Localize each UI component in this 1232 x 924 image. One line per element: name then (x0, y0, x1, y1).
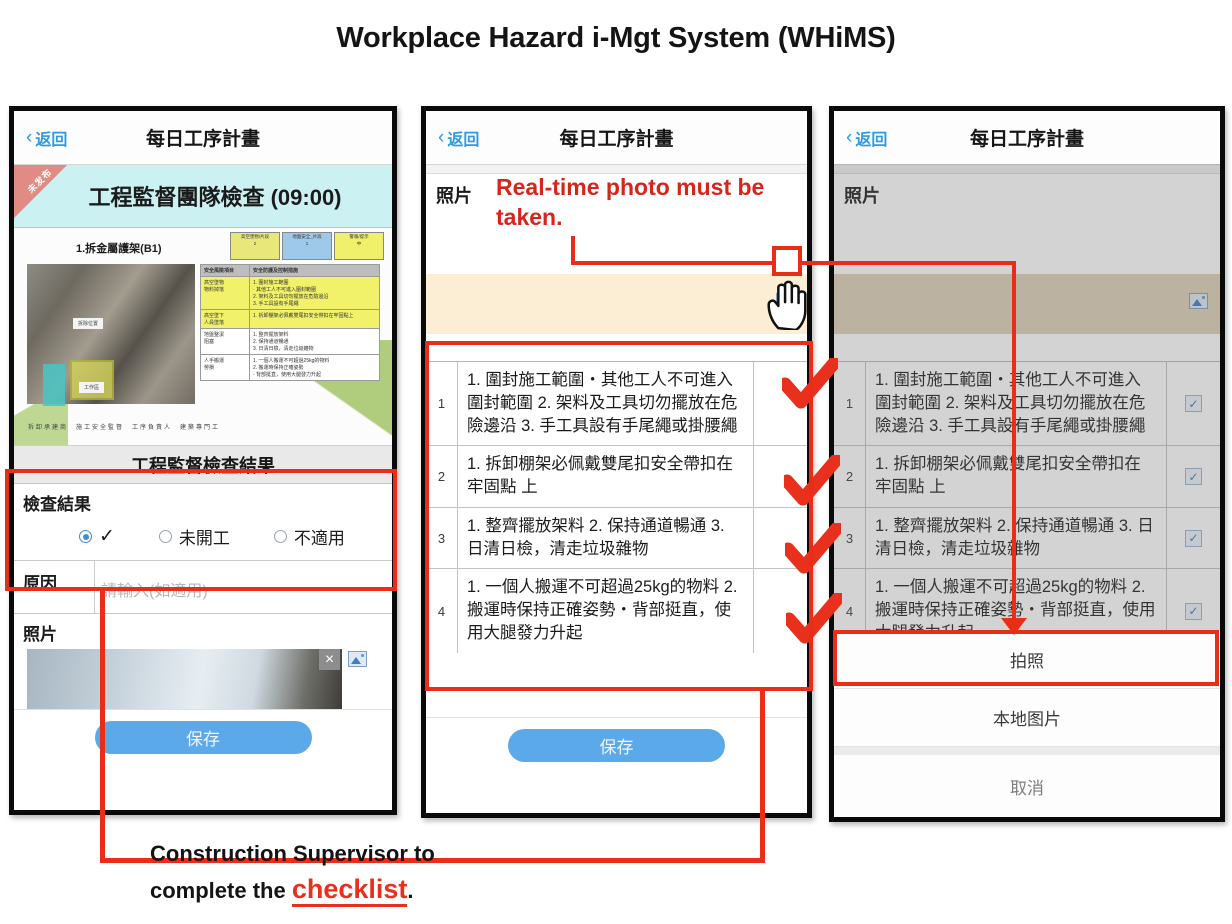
nav-title-3: 每日工序計畫 (834, 124, 1220, 151)
table-row[interactable]: 1 1. 圍封施工範圍・其他工人不可進入圍封範圍 2. 架料及工具切勿擺放在危險… (834, 362, 1220, 446)
task-banner-label: 工程監督團隊檢查 (09:00) (64, 180, 341, 212)
checklist-table-3: 1 1. 圍封施工範圍・其他工人不可進入圍封範圍 2. 架料及工具切勿擺放在危險… (834, 361, 1220, 653)
save-button-1[interactable]: 保存 (95, 721, 312, 754)
radio-option-pass[interactable]: ✓ (79, 527, 115, 546)
slide-heading: 1.拆金屬護架(B1) (76, 240, 162, 256)
checkbox-icon[interactable]: ✓ (1185, 603, 1202, 620)
checkbox-icon[interactable]: ✓ (1185, 395, 1202, 412)
picture-icon[interactable] (348, 651, 367, 667)
row-text: 1. 拆卸棚架必佩戴雙尾扣安全帶扣在牢固點 上 (866, 446, 1166, 507)
back-button-3[interactable]: ‹ 返回 (846, 126, 887, 150)
table-row[interactable]: 1 1. 圍封施工範圍・其他工人不可進入圍封範圍 2. 架料及工具切勿擺放在危險… (426, 362, 807, 446)
annotation-bottom-highlight: checklist (292, 874, 408, 907)
inspection-result-label: 檢查結果 (23, 490, 392, 515)
table-row[interactable]: 3 1. 整齊擺放架料 2. 保持通道暢通 3. 日清日檢，清走垃圾雜物 (426, 508, 807, 570)
back-label: 返回 (35, 126, 67, 150)
row-text: 1. 一個人搬運不可超過25kg的物料 2. 搬運時保持正確姿勢・背部挺直，使用… (458, 569, 753, 652)
photo-label-3: 照片 (844, 182, 880, 208)
nav-bar-3: ‹ 返回 每日工序計畫 (834, 111, 1220, 165)
photo-section-3: 照片 (834, 174, 1220, 361)
chevron-left-icon: ‹ (26, 128, 32, 147)
slide-photo-label-top: 拆除位置 (73, 318, 103, 329)
inspection-result-block: 檢查結果 ✓ 未開工 不適用 (14, 484, 392, 560)
action-local-image[interactable]: 本地图片 (834, 689, 1220, 747)
annotation-line-supervisor-h (100, 858, 152, 863)
row-checkbox-cell[interactable]: ✓ (1166, 508, 1220, 569)
save-button-2[interactable]: 保存 (508, 729, 725, 762)
action-take-photo[interactable]: 拍照 (834, 631, 1220, 689)
radio-dot-icon (79, 530, 92, 543)
photo-section-1: 照片 × (14, 613, 392, 709)
row-number: 1 (834, 362, 866, 445)
row-number: 1 (426, 362, 458, 445)
annotation-tick-2 (784, 455, 840, 507)
back-label: 返回 (447, 126, 479, 150)
row-checkbox-cell[interactable]: ✓ (1166, 446, 1220, 507)
table-row: 人手搬運 勞損 1. 一個人搬運不可超過25kg的物料 2. 搬運時保持正確姿勢… (201, 355, 379, 380)
annotation-tick-1 (782, 358, 838, 410)
annotation-bottom-line1: Construction Supervisor to (150, 841, 435, 866)
inspection-result-header: 工程監督檢查結果 (14, 446, 392, 484)
row-checkbox-cell[interactable]: ✓ (1166, 362, 1220, 445)
annotation-realtime-photo: Real-time photo must be taken. (496, 172, 796, 233)
back-label: 返回 (855, 126, 887, 150)
picture-icon[interactable] (1189, 293, 1208, 309)
radio-option-not-applicable[interactable]: 不適用 (274, 524, 345, 549)
nav-bar-1: ‹ 返回 每日工序計畫 (14, 111, 392, 165)
radio-dot-icon (159, 530, 172, 543)
save-bar-1: 保存 (14, 709, 392, 766)
table-row: 地盤整潔 阻塞 1. 整齊擺放架料 2. 保持通道暢通 3. 日清日檢，清走垃圾… (201, 329, 379, 355)
radio-option-label: ✓ (99, 527, 115, 546)
slide-photo-marker-a (43, 364, 65, 406)
table-row[interactable]: 2 1. 拆卸棚架必佩戴雙尾扣安全帶扣在牢固點 上 (426, 446, 807, 508)
scroll-strip-3 (834, 165, 1220, 174)
slide-canvas: Workplace Hazard i-Mgt System (WHiMS) ‹ … (0, 0, 1232, 924)
slide-badges: 高空墜物/片段2 地盤安全_片段1 警報/提示中 (230, 232, 384, 260)
inspection-result-radio-group[interactable]: ✓ 未開工 不適用 (23, 515, 392, 560)
table-header-row: 安全風險項目 安全防護及控制措施 (201, 265, 379, 277)
annotation-arrow-down (1001, 618, 1027, 635)
back-button-2[interactable]: ‹ 返回 (438, 126, 479, 150)
nav-bar-2: ‹ 返回 每日工序計畫 (426, 111, 807, 165)
photo-thumbnail-wrap: × (27, 649, 383, 709)
picture-icon-wrap (1183, 291, 1208, 309)
annotation-bottom-line2: complete the (150, 878, 292, 903)
row-text: 1. 圍封施工範圍・其他工人不可進入圍封範圍 2. 架料及工具切勿擺放在危險邊沿… (866, 362, 1166, 445)
row-text: 1. 拆卸棚架必佩戴雙尾扣安全帶扣在牢固點 上 (458, 446, 753, 507)
chevron-left-icon: ‹ (438, 128, 444, 147)
photo-action-sheet: 拍照 本地图片 取消 (834, 631, 1220, 817)
method-statement-image[interactable]: 1.拆金屬護架(B1) 高空墜物/片段2 地盤安全_片段1 警報/提示中 拆除位… (14, 228, 392, 446)
radio-option-not-started[interactable]: 未開工 (159, 524, 230, 549)
slide-badge: 地盤安全_片段1 (282, 232, 332, 260)
table-row: 高空墜下 人員墜落 1. 拆卸棚架必佩戴雙尾扣安全帶扣在牢固點上 (201, 310, 379, 329)
checkbox-icon[interactable]: ✓ (1185, 530, 1202, 547)
radio-option-label: 不適用 (294, 524, 345, 549)
save-bar-2: 保存 (426, 717, 807, 774)
action-cancel[interactable]: 取消 (834, 755, 1220, 817)
slide-site-photo: 拆除位置 工作區 (27, 264, 195, 404)
slide-badge: 高空墜物/片段2 (230, 232, 280, 260)
photo-label-1: 照片 (14, 614, 392, 649)
reason-label-cell: 原因 (14, 561, 94, 613)
hand-cursor-icon (764, 278, 810, 330)
checklist-table-2: 1 1. 圍封施工範圍・其他工人不可進入圍封範圍 2. 架料及工具切勿擺放在危險… (426, 361, 807, 653)
task-banner: 未发布 工程監督團隊檢查 (09:00) (14, 165, 392, 228)
row-number: 3 (426, 508, 458, 569)
reason-label: 原因 (23, 574, 57, 593)
annotation-tick-3 (785, 523, 841, 575)
table-row[interactable]: 2 1. 拆卸棚架必佩戴雙尾扣安全帶扣在牢固點 上 ✓ (834, 446, 1220, 508)
photo-label-2: 照片 (436, 182, 472, 208)
row-text: 1. 圍封施工範圍・其他工人不可進入圍封範圍 2. 架料及工具切勿擺放在危險邊沿… (458, 362, 753, 445)
row-number: 4 (426, 569, 458, 652)
phone-screen-1: ‹ 返回 每日工序計畫 未发布 工程監督團隊檢查 (09:00) 1.拆金屬護架… (9, 106, 397, 815)
slide-badge: 警報/提示中 (334, 232, 384, 260)
slide-photo-marker-b (70, 360, 114, 400)
radio-option-label: 未開工 (179, 524, 230, 549)
table-row: 高空墜物 物料掉落 1. 圍封施工範圍 · 其他工人不可進入圍封範圍 2. 架料… (201, 277, 379, 310)
slide-footer: 拆卸承建商 施工安全監督 工序負責人 建築專門工 (28, 422, 220, 431)
checkbox-icon[interactable]: ✓ (1185, 468, 1202, 485)
table-row[interactable]: 3 1. 整齊擺放架料 2. 保持通道暢通 3. 日清日檢，清走垃圾雜物 ✓ (834, 508, 1220, 570)
photo-upload-row[interactable] (834, 274, 1220, 334)
radio-dot-icon (274, 530, 287, 543)
nav-title-2: 每日工序計畫 (426, 124, 807, 151)
phone-screen-3: ‹ 返回 每日工序計畫 照片 1 1. 圍封施工範圍・其他工人不可進入圍封範圍 … (829, 106, 1225, 822)
spacer-2 (426, 653, 807, 717)
back-button-1[interactable]: ‹ 返回 (26, 126, 67, 150)
row-text: 1. 整齊擺放架料 2. 保持通道暢通 3. 日清日檢，清走垃圾雜物 (458, 508, 753, 569)
annotation-bottom-text: Construction Supervisor to complete the … (150, 838, 620, 909)
photo-thumbnail[interactable]: × (27, 649, 342, 709)
sheet-divider (834, 747, 1220, 755)
page-title: Workplace Hazard i-Mgt System (WHiMS) (0, 22, 1232, 55)
reason-input[interactable]: 請輸入(如適用) (94, 561, 392, 613)
row-text: 1. 整齊擺放架料 2. 保持通道暢通 3. 日清日檢，清走垃圾雜物 (866, 508, 1166, 569)
slide-risk-table: 安全風險項目 安全防護及控制措施 高空墜物 物料掉落 1. 圍封施工範圍 · 其… (200, 264, 380, 381)
reason-row: 原因 請輸入(如適用) (14, 560, 392, 613)
chevron-left-icon: ‹ (846, 128, 852, 147)
table-row[interactable]: 4 1. 一個人搬運不可超過25kg的物料 2. 搬運時保持正確姿勢・背部挺直，… (426, 569, 807, 652)
row-number: 2 (426, 446, 458, 507)
photo-upload-row[interactable] (426, 274, 807, 334)
close-icon[interactable]: × (319, 649, 340, 670)
slide-photo-label-bottom: 工作區 (79, 382, 104, 393)
annotation-tick-4 (786, 593, 842, 645)
nav-title-1: 每日工序計畫 (14, 124, 392, 151)
annotation-bottom-period: . (407, 878, 413, 903)
